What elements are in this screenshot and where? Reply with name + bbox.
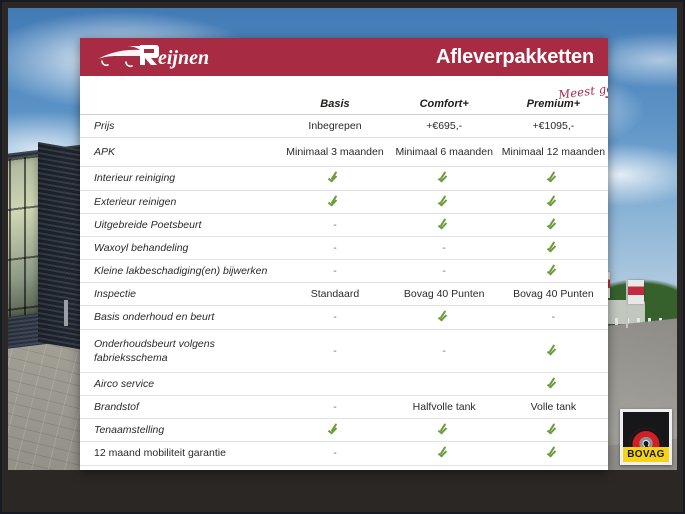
table-row: APKMinimaal 3 maandenMinimaal 6 maandenM… [80, 138, 608, 167]
check-icon-premium [499, 260, 608, 283]
check-icon-comfort [390, 190, 499, 213]
dash-icon: - [333, 345, 337, 357]
table-row: Interieur reiniging [80, 167, 608, 190]
page-title: Afleverpakketten [436, 46, 594, 69]
value-premium: Volle tank [499, 396, 608, 419]
bollard [64, 300, 68, 326]
dash-icon: - [552, 311, 556, 323]
column-header-premium: Premium+ [499, 98, 608, 115]
table-header-row: Basis Comfort+ Premium+ [80, 98, 608, 115]
check-icon [548, 377, 559, 388]
check-icon-premium [499, 213, 608, 236]
bovag-badge: BOVAG [620, 409, 672, 465]
feature-label-waxoyl-behandeling: Waxoyl behandeling [80, 236, 280, 259]
value-basis: Minimaal 3 maanden [280, 138, 389, 167]
value-comfort: +€695,- [390, 115, 499, 138]
value-comfort: 12 Maanden [390, 465, 499, 470]
value-basis: Inbegrepen [280, 115, 389, 138]
check-icon-premium [499, 372, 608, 395]
table-row: Uitgebreide Poetsbeurt- [80, 213, 608, 236]
table-row: PrijsInbegrepen+€695,-+€1095,- [80, 115, 608, 138]
not-included-dash-basis: - [280, 213, 389, 236]
dash-icon: - [333, 242, 337, 254]
table-row: InspectieStandaardBovag 40 PuntenBovag 4… [80, 283, 608, 306]
card-header: eijnen Afleverpakketten [80, 38, 608, 76]
table-row: Waxoyl behandeling-- [80, 236, 608, 259]
not-included-dash-comfort: - [390, 260, 499, 283]
check-icon [548, 344, 559, 355]
feature-label-garantie: Garantie [80, 465, 280, 470]
not-included-dash-basis: - [280, 396, 389, 419]
not-included-dash-basis: - [280, 236, 389, 259]
bovag-badge-inner: BOVAG [623, 412, 669, 462]
table-row: 12 maand mobiliteit garantie- [80, 442, 608, 465]
not-included-dash-premium: - [499, 306, 608, 329]
showroom-glass-facade [0, 155, 38, 318]
reijnen-logo: eijnen [96, 42, 214, 72]
check-icon [439, 446, 450, 457]
check-icon [548, 241, 559, 252]
column-header-basis: Basis [280, 98, 389, 115]
feature-label-uitgebreide-poetsbeurt: Uitgebreide Poetsbeurt [80, 213, 280, 236]
check-icon [548, 446, 559, 457]
dash-icon: - [333, 265, 337, 277]
table-row: Brandstof-Halfvolle tankVolle tank [80, 396, 608, 419]
dash-icon: - [333, 311, 337, 323]
dash-icon: - [333, 447, 337, 459]
not-included-dash-comfort: - [390, 329, 499, 372]
check-icon [439, 171, 450, 182]
check-icon [548, 423, 559, 434]
check-icon [329, 171, 340, 182]
check-icon-premium [499, 419, 608, 442]
feature-label-prijs: Prijs [80, 115, 280, 138]
value-basis: Wettelijk [280, 465, 389, 470]
value-comfort: Bovag 40 Punten [390, 283, 499, 306]
not-included-dash-basis: - [280, 442, 389, 465]
feature-label-airco-service: Airco service [80, 372, 280, 395]
dash-icon: - [333, 401, 337, 413]
empty-cell-comfort [390, 372, 499, 395]
table-row: Basis onderhoud en beurt-- [80, 306, 608, 329]
feature-label-interieur-reiniging: Interieur reiniging [80, 167, 280, 190]
flag-cloth [628, 280, 644, 304]
check-icon [548, 218, 559, 229]
check-icon-premium [499, 236, 608, 259]
value-premium: Bovag 40 Punten [499, 283, 608, 306]
feature-label-inspectie: Inspectie [80, 283, 280, 306]
check-icon [548, 195, 559, 206]
feature-label-onderhoudsbeurt-volgens-fabrieksschema: Onderhoudsbeurt volgens fabrieksschema [80, 329, 280, 372]
check-icon-basis [280, 190, 389, 213]
check-icon-comfort [390, 167, 499, 190]
check-icon [439, 423, 450, 434]
check-icon [439, 310, 450, 321]
feature-label-basis-onderhoud-en-beurt: Basis onderhoud en beurt [80, 306, 280, 329]
feature-label-exterieur-reinigen: Exterieur reinigen [80, 190, 280, 213]
value-premium: Minimaal 12 maanden [499, 138, 608, 167]
check-icon [439, 218, 450, 229]
dash-icon: - [442, 345, 446, 357]
table-row: Exterieur reinigen [80, 190, 608, 213]
table-row: Tenaamstelling [80, 419, 608, 442]
feature-label-apk: APK [80, 138, 280, 167]
packages-comparison-table: Basis Comfort+ Premium+ PrijsInbegrepen+… [80, 98, 608, 470]
check-icon-basis [280, 167, 389, 190]
check-icon [439, 195, 450, 206]
value-premium: +€1095,- [499, 115, 608, 138]
feature-label-kleine-lakbeschadigingen-bijwerken: Kleine lakbeschadiging(en) bijwerken [80, 260, 280, 283]
dash-icon: - [333, 219, 337, 231]
value-comfort: Minimaal 6 maanden [390, 138, 499, 167]
value-comfort: Halfvolle tank [390, 396, 499, 419]
check-icon-comfort [390, 306, 499, 329]
column-header-feature [80, 98, 280, 115]
check-icon [548, 171, 559, 182]
check-icon [548, 264, 559, 275]
check-icon-comfort [390, 213, 499, 236]
car-swoosh-icon: eijnen [96, 42, 214, 72]
check-icon-comfort [390, 442, 499, 465]
reijnen-wordmark: eijnen [158, 47, 209, 69]
table-row: Airco service [80, 372, 608, 395]
not-included-dash-basis: - [280, 306, 389, 329]
showroom-side-wall [38, 142, 84, 350]
check-icon [329, 423, 340, 434]
dash-icon: - [442, 242, 446, 254]
value-premium: 12 Maanden [499, 465, 608, 470]
check-icon-comfort [390, 419, 499, 442]
afleverpakketten-card: eijnen Afleverpakketten Basis Comfort+ P… [80, 38, 608, 470]
check-icon [329, 195, 340, 206]
feature-label-12-maand-mobiliteit-garantie: 12 maand mobiliteit garantie [80, 442, 280, 465]
check-icon-premium [499, 167, 608, 190]
check-icon-premium [499, 442, 608, 465]
bovag-wordmark-band: BOVAG [623, 447, 669, 462]
value-basis: Standaard [280, 283, 389, 306]
check-icon-premium [499, 190, 608, 213]
empty-cell-basis [280, 372, 389, 395]
table-row: Onderhoudsbeurt volgens fabrieksschema-- [80, 329, 608, 372]
not-included-dash-basis: - [280, 329, 389, 372]
check-icon-basis [280, 419, 389, 442]
feature-label-tenaamstelling: Tenaamstelling [80, 419, 280, 442]
bovag-label: BOVAG [627, 449, 664, 460]
feature-label-brandstof: Brandstof [80, 396, 280, 419]
not-included-dash-basis: - [280, 260, 389, 283]
column-header-comfort: Comfort+ [390, 98, 499, 115]
dash-icon: - [442, 265, 446, 277]
table-row: Kleine lakbeschadiging(en) bijwerken-- [80, 260, 608, 283]
packages-table-body: PrijsInbegrepen+€695,-+€1095,-APKMinimaa… [80, 115, 608, 471]
check-icon-premium [499, 329, 608, 372]
table-row: GarantieWettelijk12 Maanden12 Maanden [80, 465, 608, 470]
not-included-dash-comfort: - [390, 236, 499, 259]
